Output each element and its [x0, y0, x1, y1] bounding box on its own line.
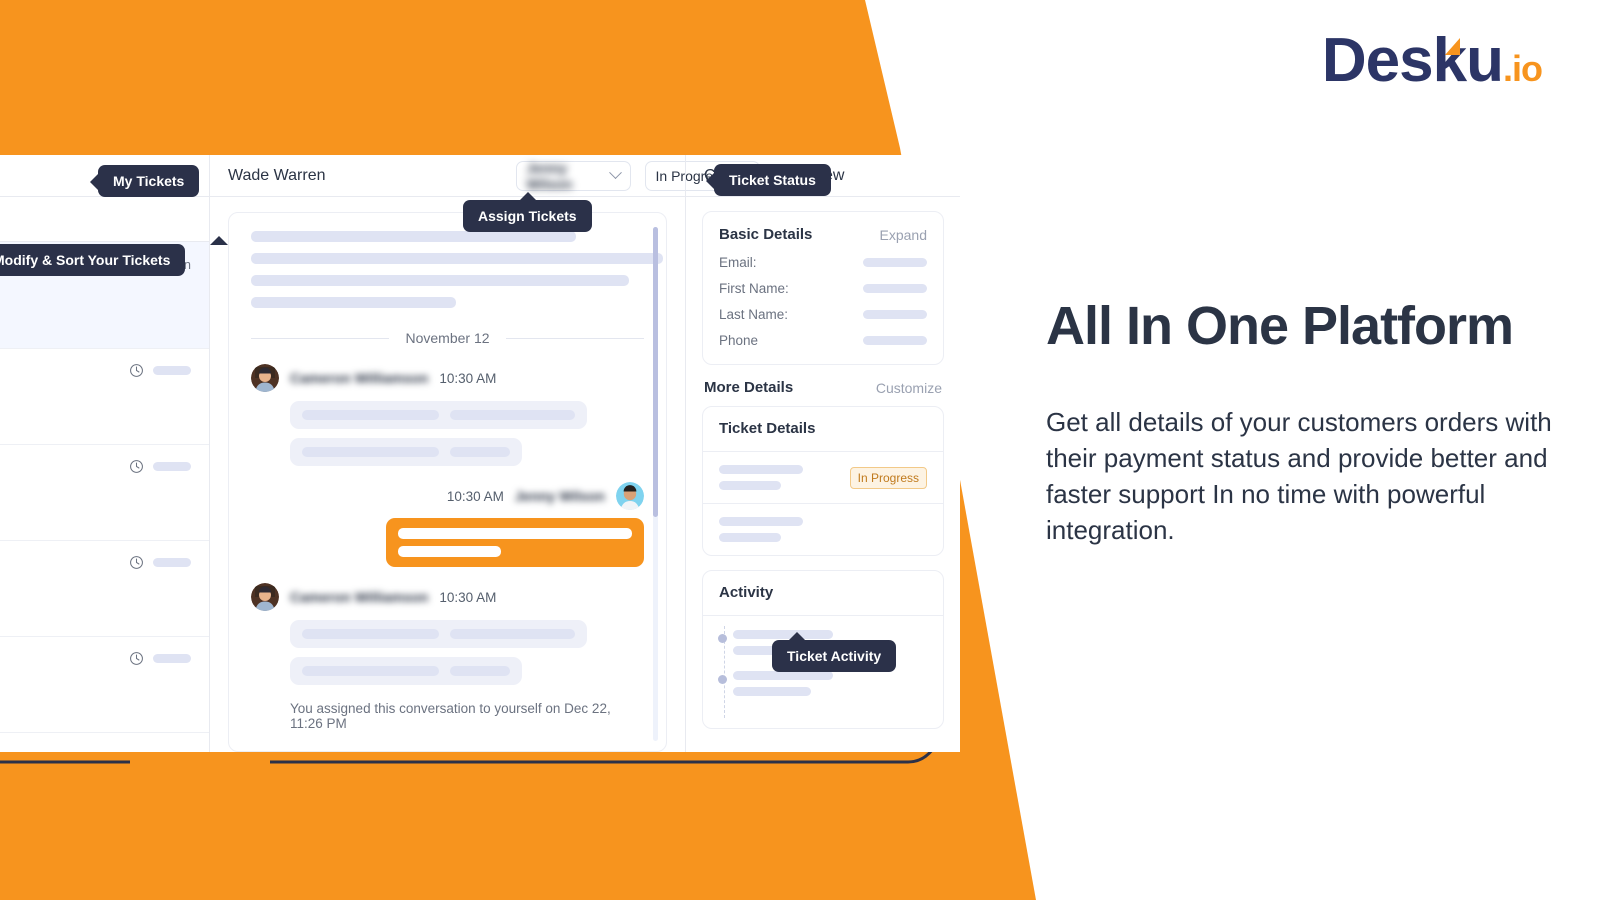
conversation-header: Wade Warren Jenny Wilson In Progress	[210, 155, 685, 197]
logo-accent-icon	[1445, 38, 1460, 55]
clock-icon	[129, 651, 144, 666]
more-details-section-header: More Details Customize	[702, 379, 944, 396]
tooltip-arrow-up-icon	[519, 192, 537, 201]
skeleton-line	[302, 629, 439, 639]
system-message: You assigned this conversation to yourse…	[290, 701, 644, 731]
skeleton-line	[450, 410, 575, 420]
ticket-list-item[interactable]: Customer:	[0, 349, 209, 445]
skeleton-line	[251, 275, 629, 286]
ticket-list-item[interactable]: Customer:	[0, 541, 209, 637]
desku-logo: Desku.io	[1322, 30, 1542, 92]
tooltip-ticket-status: Ticket Status	[714, 164, 831, 196]
tooltip-label: My Tickets	[113, 173, 184, 189]
skeleton-line	[719, 533, 781, 542]
activity-header: Activity	[703, 571, 943, 616]
divider-line	[506, 338, 644, 339]
message-bubble-outgoing	[386, 518, 644, 567]
thread-scrollbar-thumb[interactable]	[653, 227, 658, 517]
skeleton-line	[450, 666, 510, 676]
skeleton-line	[450, 447, 510, 457]
conversation-title: Wade Warren	[228, 167, 326, 185]
assignee-value: Jenny Wilson	[527, 160, 603, 192]
ticket-list-item[interactable]: Customer:	[0, 445, 209, 541]
message-thread: November 12	[228, 212, 667, 752]
expand-link[interactable]: Expand	[880, 227, 927, 243]
skeleton-line	[251, 253, 663, 264]
ticket-time	[129, 363, 191, 378]
logo-k-wrap: ku	[1433, 30, 1503, 92]
ticket-detail-skeletons	[719, 517, 803, 542]
sidebar-toolbar: Filter Newest	[0, 197, 209, 242]
message-incoming: Cameron Williamson 10:30 AM	[251, 364, 644, 466]
field-value-skeleton	[863, 336, 927, 345]
tooltip-arrow-up-icon	[788, 632, 806, 641]
assignee-dropdown[interactable]: Jenny Wilson	[516, 161, 631, 191]
clock-icon	[129, 555, 144, 570]
skeleton-line	[733, 671, 833, 680]
ticket-detail-row	[703, 504, 943, 555]
status-badge: In Progress	[850, 467, 927, 489]
ticket-details-card: Ticket Details In Progress	[702, 406, 944, 556]
page-title: All In One Platform	[1046, 297, 1513, 356]
skeleton-line	[719, 465, 803, 474]
message-sender: Cameron Williamson	[290, 370, 428, 386]
avatar	[251, 583, 279, 611]
ticket-time	[129, 459, 191, 474]
tooltip-label: Ticket Activity	[787, 648, 881, 664]
message-time: 10:30 AM	[439, 371, 496, 386]
ticket-time	[129, 555, 191, 570]
detail-field-row: Last Name:	[719, 307, 927, 322]
skeleton-line	[719, 481, 781, 490]
ticket-list-item[interactable]: Customer:	[0, 637, 209, 733]
ticket-time	[129, 651, 191, 666]
ticket-details-title: Ticket Details	[719, 420, 815, 437]
field-label: First Name:	[719, 281, 789, 296]
date-divider: November 12	[251, 330, 644, 346]
basic-details-title: Basic Details	[719, 226, 812, 243]
avatar	[251, 364, 279, 392]
skeleton-line	[302, 410, 439, 420]
field-label: Phone	[719, 333, 758, 348]
logo-text-primary: Des	[1322, 26, 1433, 95]
skeleton-line	[302, 447, 439, 457]
field-value-skeleton	[863, 310, 927, 319]
message-time: 10:30 AM	[439, 590, 496, 605]
message-bubble	[290, 657, 522, 685]
skeleton-line	[398, 528, 632, 539]
message-sender: Jenny Wilson	[515, 488, 605, 504]
chevron-down-icon	[609, 166, 622, 179]
field-label: Email:	[719, 255, 757, 270]
tooltip-ticket-activity: Ticket Activity	[772, 640, 896, 672]
conversation-panel: Wade Warren Jenny Wilson In Progress	[210, 155, 685, 752]
skeleton-line	[733, 687, 811, 696]
field-value-skeleton	[863, 258, 927, 267]
ticket-time-skeleton	[153, 462, 191, 471]
activity-title: Activity	[719, 584, 773, 601]
tooltip-arrow-left-icon	[90, 173, 99, 191]
clock-icon	[129, 363, 144, 378]
ticket-detail-row: In Progress	[703, 452, 943, 504]
skeleton-line	[719, 517, 803, 526]
thread-skeleton-block	[251, 231, 644, 308]
ticket-detail-skeletons	[719, 465, 803, 490]
logo-text-secondary: ku	[1433, 26, 1503, 95]
skeleton-line	[251, 231, 576, 242]
detail-field-row: First Name:	[719, 281, 927, 296]
detail-field-row: Email:	[719, 255, 927, 270]
tooltip-label: Ticket Status	[729, 172, 816, 188]
skeleton-line	[251, 297, 456, 308]
message-outgoing: 10:30 AM Jenny Wilson	[251, 482, 644, 567]
skeleton-line	[733, 630, 833, 639]
message-bubble	[290, 438, 522, 466]
message-time: 10:30 AM	[447, 489, 504, 504]
ticket-time-skeleton	[153, 654, 191, 663]
message-bubble	[290, 620, 587, 648]
tooltip-modify-sort: Modify & Sort Your Tickets	[0, 244, 185, 276]
tooltip-arrow-up-icon	[210, 236, 228, 245]
ticket-time-skeleton	[153, 366, 191, 375]
more-details-title: More Details	[704, 379, 793, 396]
message-bubble	[290, 401, 587, 429]
conversation-body: November 12	[210, 197, 685, 752]
tooltip-label: Modify & Sort Your Tickets	[0, 252, 170, 268]
field-value-skeleton	[863, 284, 927, 293]
skeleton-line	[398, 546, 501, 557]
skeleton-line	[450, 629, 575, 639]
basic-details-card: Basic Details Expand Email: First Name: …	[702, 211, 944, 365]
page-subtitle: Get all details of your customers orders…	[1046, 404, 1566, 549]
clock-icon	[129, 459, 144, 474]
tooltip-assign-tickets: Assign Tickets	[463, 200, 592, 232]
ticket-time-skeleton	[153, 558, 191, 567]
tooltip-my-tickets: My Tickets	[98, 165, 199, 197]
message-incoming: Cameron Williamson 10:30 AM	[251, 583, 644, 685]
skeleton-line	[302, 666, 439, 676]
customize-link[interactable]: Customize	[876, 380, 942, 396]
detail-field-row: Phone	[719, 333, 927, 348]
promo-slide: Assigned to Me Filter Newest	[0, 0, 1600, 900]
tooltip-arrow-left-icon	[706, 172, 715, 190]
tooltip-label: Assign Tickets	[478, 208, 577, 224]
divider-date: November 12	[405, 330, 489, 346]
timeline-item	[733, 671, 927, 696]
logo-suffix: .io	[1503, 48, 1542, 89]
timeline-dot	[718, 634, 727, 643]
avatar	[616, 482, 644, 510]
divider-line	[251, 338, 389, 339]
ticket-details-header: Ticket Details	[703, 407, 943, 452]
timeline-dot	[718, 675, 727, 684]
activity-timeline	[703, 616, 943, 728]
message-sender: Cameron Williamson	[290, 589, 428, 605]
field-label: Last Name:	[719, 307, 788, 322]
